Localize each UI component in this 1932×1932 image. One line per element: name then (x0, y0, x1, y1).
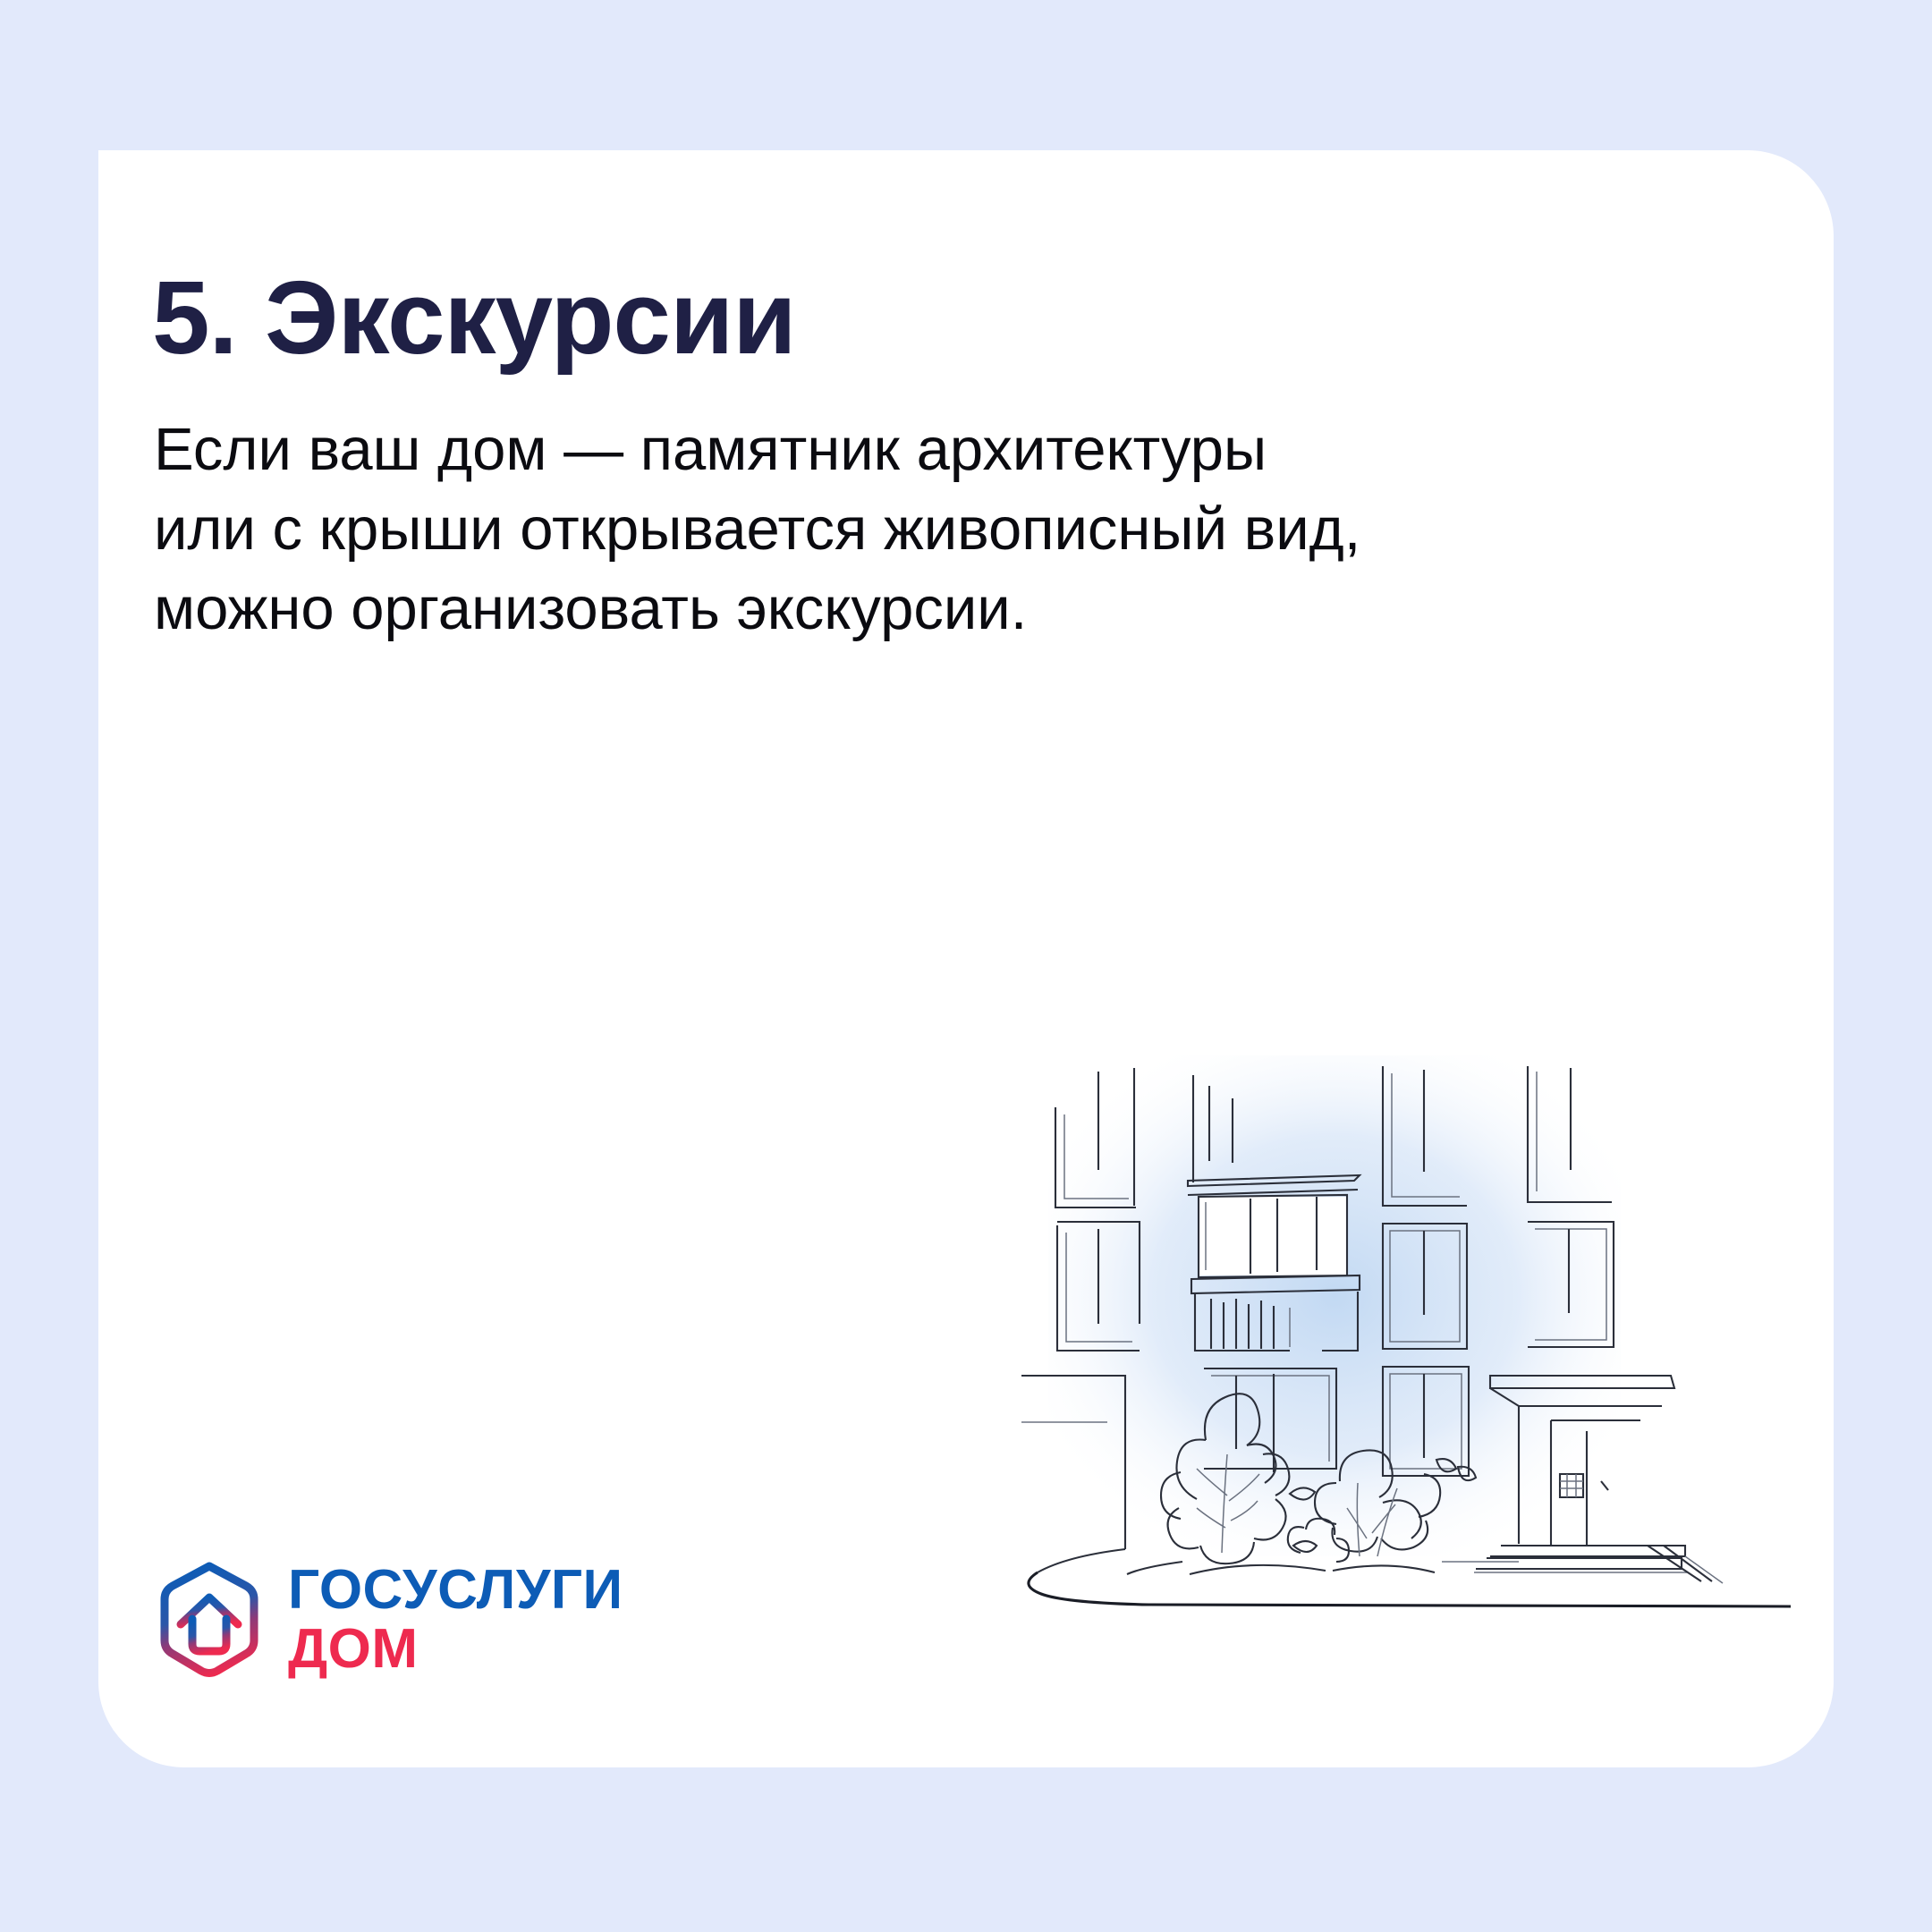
logo-wordmark: ГОСУСЛУГИ ДОМ (288, 1563, 623, 1675)
body-line-2: или с крыши открывается живописный вид, (154, 489, 1549, 569)
apartment-building-facade-illustration: .ln { fill:none; stroke:#2B2F3A; stroke-… (1021, 1055, 1791, 1682)
body-line-1: Если ваш дом — памятник архитектуры (154, 410, 1549, 489)
illustration: .ln { fill:none; stroke:#2B2F3A; stroke-… (1021, 1055, 1791, 1682)
content-card: 5. Экскурсии Если ваш дом — памятник арх… (98, 150, 1834, 1767)
body-copy: Если ваш дом — памятник архитектуры или … (154, 410, 1549, 648)
body-line-3: можно организовать экскурсии. (154, 569, 1549, 648)
gosuslugi-dom-logo: ГОСУСЛУГИ ДОМ (154, 1560, 623, 1680)
slide-root: 5. Экскурсии Если ваш дом — памятник арх… (0, 0, 1932, 1932)
logo-word-dom: ДОМ (288, 1623, 623, 1676)
gosuslugi-dom-house-hexagon-icon (154, 1560, 265, 1680)
logo-word-gosuslugi: ГОСУСЛУГИ (288, 1563, 623, 1617)
page-title: 5. Экскурсии (152, 263, 796, 373)
